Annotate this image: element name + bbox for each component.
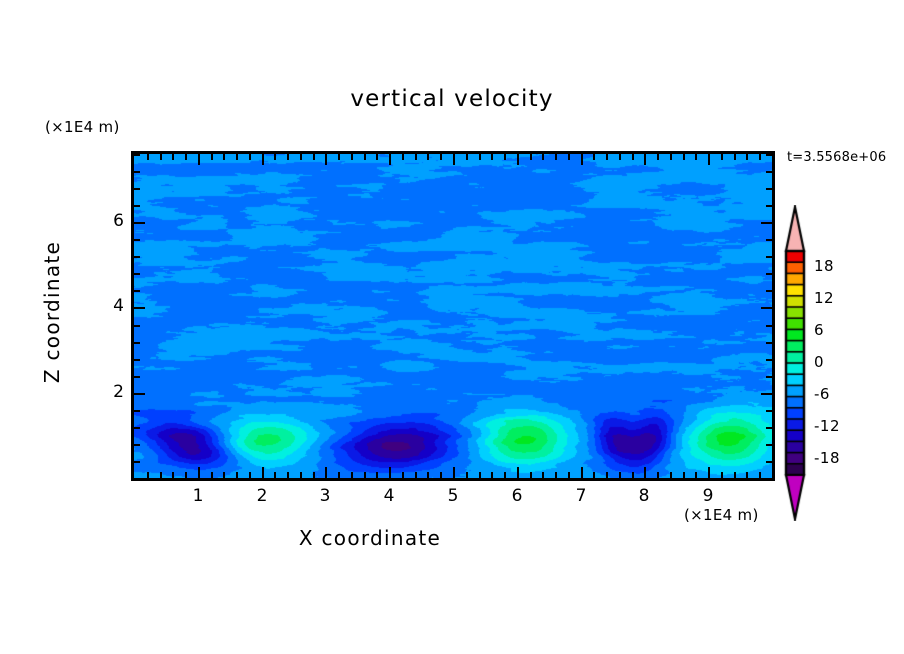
y-tick-major xyxy=(134,307,145,309)
x-tick-minor-top xyxy=(695,154,697,160)
x-tick-major xyxy=(325,467,327,478)
y-tick-major-right xyxy=(761,307,772,309)
x-tick-minor xyxy=(287,472,289,478)
y-tick-minor-right xyxy=(766,461,772,463)
colorbar-gradient xyxy=(778,205,812,521)
x-tick-minor-top xyxy=(746,154,748,160)
plot-canvas: vertical velocity (×1E4 m) t=3.5568e+06 … xyxy=(0,0,904,654)
x-tick-major xyxy=(581,467,583,478)
x-tick-minor-top xyxy=(274,154,276,160)
x-tick-minor-top xyxy=(734,154,736,160)
y-tick-minor xyxy=(134,359,140,361)
y-tick-minor xyxy=(134,444,140,446)
x-tick-label: 8 xyxy=(624,486,664,506)
x-tick-major xyxy=(708,467,710,478)
x-tick-minor-top xyxy=(440,154,442,160)
x-axis-units: (×1E4 m) xyxy=(684,506,759,524)
x-tick-minor-top xyxy=(657,154,659,160)
y-tick-minor-right xyxy=(766,171,772,173)
x-tick-minor xyxy=(147,472,149,478)
x-tick-minor-top xyxy=(236,154,238,160)
x-tick-minor-top xyxy=(402,154,404,160)
x-tick-minor-top xyxy=(338,154,340,160)
y-tick-minor xyxy=(134,171,140,173)
x-tick-label: 6 xyxy=(497,486,537,506)
y-tick-minor-right xyxy=(766,205,772,207)
x-tick-minor-top xyxy=(415,154,417,160)
x-tick-major xyxy=(198,467,200,478)
x-tick-minor xyxy=(249,472,251,478)
y-tick-minor xyxy=(134,376,140,378)
x-tick-minor xyxy=(695,472,697,478)
y-axis-label: Z coordinate xyxy=(40,202,64,422)
x-tick-minor xyxy=(300,472,302,478)
y-tick-minor xyxy=(134,239,140,241)
x-tick-major-top xyxy=(708,154,710,165)
x-tick-minor xyxy=(440,472,442,478)
x-tick-label: 7 xyxy=(561,486,601,506)
contour-field xyxy=(134,154,772,478)
x-tick-major xyxy=(517,467,519,478)
y-tick-minor-right xyxy=(766,239,772,241)
x-tick-label: 2 xyxy=(242,486,282,506)
x-tick-minor-top xyxy=(632,154,634,160)
x-tick-major-top xyxy=(517,154,519,165)
y-tick-minor-right xyxy=(766,290,772,292)
x-tick-minor-top xyxy=(504,154,506,160)
x-tick-minor-top xyxy=(160,154,162,160)
x-tick-major xyxy=(453,467,455,478)
x-tick-minor xyxy=(657,472,659,478)
y-tick-minor xyxy=(134,205,140,207)
y-tick-major xyxy=(134,222,145,224)
x-tick-minor xyxy=(721,472,723,478)
x-tick-minor xyxy=(338,472,340,478)
y-tick-minor xyxy=(134,342,140,344)
x-tick-major xyxy=(389,467,391,478)
y-tick-minor-right xyxy=(766,342,772,344)
x-tick-minor xyxy=(746,472,748,478)
x-tick-major-top xyxy=(325,154,327,165)
x-tick-minor-top xyxy=(364,154,366,160)
x-tick-minor xyxy=(351,472,353,478)
x-tick-minor-top xyxy=(568,154,570,160)
x-tick-major xyxy=(262,467,264,478)
x-tick-minor-top xyxy=(670,154,672,160)
x-tick-major-top xyxy=(453,154,455,165)
x-tick-major xyxy=(644,467,646,478)
x-tick-minor xyxy=(236,472,238,478)
x-tick-label: 5 xyxy=(433,486,473,506)
x-tick-minor xyxy=(555,472,557,478)
x-tick-minor xyxy=(530,472,532,478)
x-tick-minor xyxy=(313,472,315,478)
x-tick-minor-top xyxy=(351,154,353,160)
x-tick-minor xyxy=(491,472,493,478)
y-tick-label: 2 xyxy=(84,382,124,402)
x-tick-minor xyxy=(619,472,621,478)
colorbar-tick-label: -6 xyxy=(814,385,830,403)
x-tick-label: 9 xyxy=(688,486,728,506)
x-tick-minor-top xyxy=(313,154,315,160)
y-tick-label: 4 xyxy=(84,296,124,316)
y-tick-minor xyxy=(134,410,140,412)
x-tick-minor xyxy=(223,472,225,478)
y-tick-minor xyxy=(134,188,140,190)
x-tick-minor xyxy=(402,472,404,478)
x-tick-minor xyxy=(606,472,608,478)
x-tick-minor-top xyxy=(300,154,302,160)
x-tick-minor xyxy=(211,472,213,478)
x-tick-minor xyxy=(364,472,366,478)
x-tick-minor-top xyxy=(466,154,468,160)
y-tick-minor-right xyxy=(766,444,772,446)
y-tick-label: 6 xyxy=(84,211,124,231)
y-tick-minor xyxy=(134,256,140,258)
y-tick-minor-right xyxy=(766,188,772,190)
colorbar-tick-label: 18 xyxy=(814,257,834,275)
y-tick-minor xyxy=(134,325,140,327)
y-tick-minor xyxy=(134,290,140,292)
x-tick-minor xyxy=(759,472,761,478)
y-tick-minor-right xyxy=(766,410,772,412)
x-tick-minor xyxy=(274,472,276,478)
x-tick-minor-top xyxy=(147,154,149,160)
x-tick-minor-top xyxy=(683,154,685,160)
x-tick-minor xyxy=(734,472,736,478)
x-tick-minor xyxy=(632,472,634,478)
x-tick-major-top xyxy=(262,154,264,165)
x-tick-minor-top xyxy=(172,154,174,160)
page-title: vertical velocity xyxy=(0,86,904,112)
y-tick-minor-right xyxy=(766,154,772,156)
x-tick-label: 3 xyxy=(305,486,345,506)
x-tick-minor-top xyxy=(606,154,608,160)
y-tick-major-right xyxy=(761,222,772,224)
y-tick-minor-right xyxy=(766,256,772,258)
x-tick-minor xyxy=(160,472,162,478)
x-tick-minor-top xyxy=(619,154,621,160)
x-axis-label: X coordinate xyxy=(0,526,740,550)
x-tick-minor-top xyxy=(376,154,378,160)
x-tick-minor-top xyxy=(287,154,289,160)
x-tick-minor-top xyxy=(185,154,187,160)
x-tick-label: 1 xyxy=(178,486,218,506)
colorbar-tick-label: 12 xyxy=(814,289,834,307)
x-tick-minor-top xyxy=(555,154,557,160)
y-tick-minor xyxy=(134,154,140,156)
x-tick-minor xyxy=(427,472,429,478)
colorbar-tick-label: -18 xyxy=(814,449,840,467)
x-tick-minor xyxy=(376,472,378,478)
x-tick-minor xyxy=(593,472,595,478)
x-tick-minor xyxy=(504,472,506,478)
x-tick-minor-top xyxy=(542,154,544,160)
x-tick-minor xyxy=(172,472,174,478)
x-tick-minor-top xyxy=(530,154,532,160)
x-tick-major-top xyxy=(389,154,391,165)
x-tick-minor xyxy=(670,472,672,478)
timestamp-label: t=3.5568e+06 xyxy=(787,150,886,165)
y-axis-units: (×1E4 m) xyxy=(45,118,120,136)
y-tick-minor xyxy=(134,461,140,463)
y-tick-major-right xyxy=(761,393,772,395)
y-tick-minor-right xyxy=(766,376,772,378)
x-tick-major-top xyxy=(581,154,583,165)
y-tick-minor-right xyxy=(766,325,772,327)
x-tick-minor-top xyxy=(249,154,251,160)
x-tick-minor-top xyxy=(593,154,595,160)
x-tick-minor xyxy=(542,472,544,478)
x-tick-label: 4 xyxy=(369,486,409,506)
y-tick-minor-right xyxy=(766,273,772,275)
x-tick-minor xyxy=(415,472,417,478)
x-tick-minor-top xyxy=(223,154,225,160)
x-tick-minor xyxy=(479,472,481,478)
colorbar-tick-label: 0 xyxy=(814,353,824,371)
y-tick-minor-right xyxy=(766,478,772,480)
x-tick-minor-top xyxy=(759,154,761,160)
x-tick-minor-top xyxy=(479,154,481,160)
x-tick-minor xyxy=(568,472,570,478)
x-tick-minor-top xyxy=(491,154,493,160)
x-tick-minor xyxy=(185,472,187,478)
x-tick-minor-top xyxy=(721,154,723,160)
x-tick-minor-top xyxy=(427,154,429,160)
colorbar-tick-label: 6 xyxy=(814,321,824,339)
colorbar xyxy=(778,205,812,521)
colorbar-tick-label: -12 xyxy=(814,417,840,435)
x-tick-minor xyxy=(466,472,468,478)
x-tick-minor-top xyxy=(211,154,213,160)
contour-plot xyxy=(134,154,772,478)
y-tick-major xyxy=(134,393,145,395)
x-tick-minor xyxy=(683,472,685,478)
y-tick-minor-right xyxy=(766,427,772,429)
x-tick-major-top xyxy=(644,154,646,165)
y-tick-minor xyxy=(134,478,140,480)
y-tick-minor-right xyxy=(766,359,772,361)
y-tick-minor xyxy=(134,427,140,429)
x-tick-major-top xyxy=(198,154,200,165)
y-tick-minor xyxy=(134,273,140,275)
